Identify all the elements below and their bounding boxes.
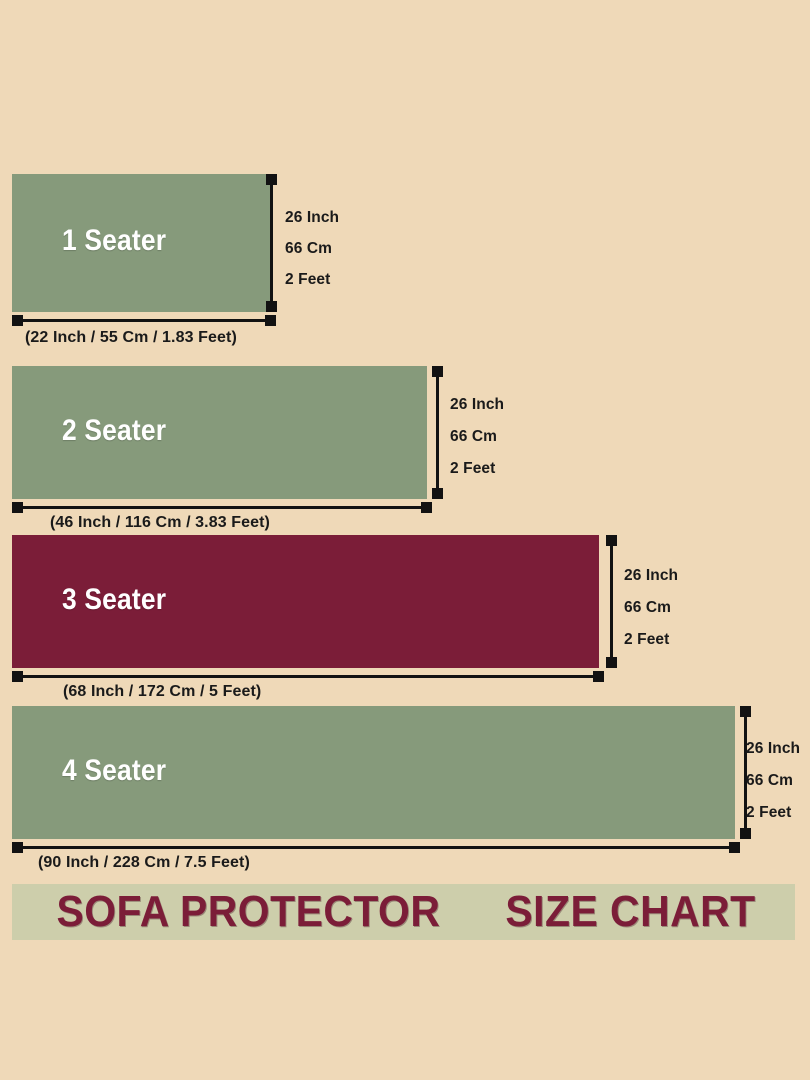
height-text-inch-2: 26 Inch — [450, 396, 504, 414]
height-text-feet-2: 2 Feet — [450, 460, 495, 478]
height-dimension-line-3 — [606, 535, 617, 668]
height-text-feet-3: 2 Feet — [624, 631, 669, 649]
footer-title-left: SOFA PROTECTOR — [56, 890, 440, 934]
width-dimension-line-2 — [12, 502, 432, 513]
seater-label-2: 2 Seater — [62, 414, 166, 448]
height-text-inch-4: 26 Inch — [746, 740, 800, 758]
dimension-line-vertical — [270, 178, 273, 308]
width-caption-2: (46 Inch / 116 Cm / 3.83 Feet) — [50, 514, 270, 532]
height-text-cm-1: 66 Cm — [285, 240, 332, 258]
seater-label-3: 3 Seater — [62, 583, 166, 617]
dimension-line-vertical — [436, 370, 439, 495]
width-dimension-line-1 — [12, 315, 276, 326]
dimension-cap-bottom — [432, 488, 443, 499]
height-text-cm-4: 66 Cm — [746, 772, 793, 790]
dimension-cap-bottom — [606, 657, 617, 668]
size-row-3-seater: 3 Seater 26 Inch 66 Cm 2 Feet (68 Inch /… — [0, 535, 810, 690]
height-text-feet-1: 2 Feet — [285, 271, 330, 289]
dimension-cap-bottom — [266, 301, 277, 312]
width-caption-4: (90 Inch / 228 Cm / 7.5 Feet) — [38, 854, 250, 872]
dimension-cap-right — [593, 671, 604, 682]
size-row-2-seater: 2 Seater 26 Inch 66 Cm 2 Feet (46 Inch /… — [0, 366, 810, 516]
height-text-cm-2: 66 Cm — [450, 428, 497, 446]
width-caption-1: (22 Inch / 55 Cm / 1.83 Feet) — [25, 329, 237, 347]
size-row-1-seater: 1 Seater 26 Inch 66 Cm 2 Feet (22 Inch /… — [0, 174, 810, 324]
dimension-line-vertical — [610, 539, 613, 664]
width-dimension-line-4 — [12, 842, 740, 853]
dimension-cap-right — [729, 842, 740, 853]
height-dimension-line-2 — [432, 366, 443, 499]
height-text-feet-4: 2 Feet — [746, 804, 791, 822]
height-text-inch-3: 26 Inch — [624, 567, 678, 585]
footer-banner: SOFA PROTECTOR SIZE CHART — [12, 884, 795, 940]
width-dimension-line-3 — [12, 671, 604, 682]
dimension-line-horizontal — [16, 319, 272, 322]
dimension-line-horizontal — [16, 675, 600, 678]
dimension-cap-right — [421, 502, 432, 513]
dimension-cap-bottom — [740, 828, 751, 839]
seater-label-1: 1 Seater — [62, 224, 166, 258]
size-row-4-seater: 4 Seater 26 Inch 66 Cm 2 Feet (90 Inch /… — [0, 706, 810, 861]
dimension-line-horizontal — [16, 506, 428, 509]
size-chart: 1 Seater 26 Inch 66 Cm 2 Feet (22 Inch /… — [0, 0, 810, 1080]
dimension-line-horizontal — [16, 846, 736, 849]
height-dimension-line-1 — [266, 174, 277, 312]
height-text-cm-3: 66 Cm — [624, 599, 671, 617]
footer-title-right: SIZE CHART — [506, 890, 756, 934]
height-text-inch-1: 26 Inch — [285, 209, 339, 227]
seater-label-4: 4 Seater — [62, 754, 166, 788]
width-caption-3: (68 Inch / 172 Cm / 5 Feet) — [63, 683, 261, 701]
dimension-cap-right — [265, 315, 276, 326]
